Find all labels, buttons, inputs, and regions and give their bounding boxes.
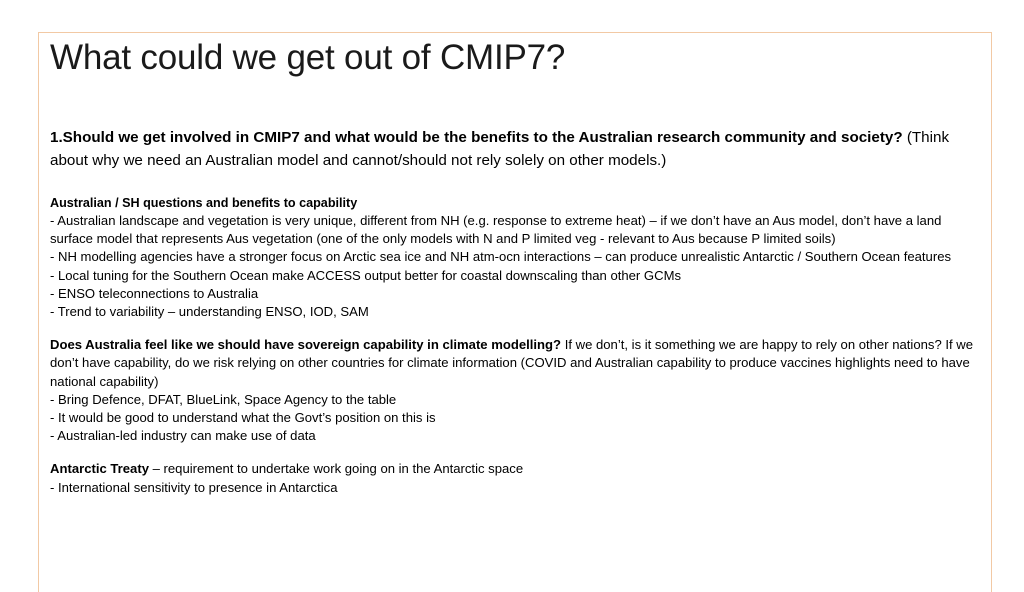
list-item: - Australian landscape and vegetation is… [50, 212, 978, 248]
list-item: - Australian-led industry can make use o… [50, 427, 978, 445]
slide-canvas: What could we get out of CMIP7? 1.Should… [0, 0, 1024, 576]
list-item: - Trend to variability – understanding E… [50, 303, 978, 321]
section-heading-australian: Australian / SH questions and benefits t… [50, 194, 978, 212]
page-title: What could we get out of CMIP7? [50, 36, 950, 80]
list-item: - Bring Defence, DFAT, BlueLink, Space A… [50, 391, 978, 409]
list-item: - International sensitivity to presence … [50, 479, 978, 497]
slide-body: 1.Should we get involved in CMIP7 and wh… [50, 126, 978, 497]
list-item: - It would be good to understand what th… [50, 409, 978, 427]
list-item: - ENSO teleconnections to Australia [50, 285, 978, 303]
section-antarctic-bullets: - International sensitivity to presence … [50, 479, 978, 497]
section-lead-sovereign: Does Australia feel like we should have … [50, 336, 978, 391]
section-australian-bullets: - Australian landscape and vegetation is… [50, 212, 978, 321]
question-bold-text: 1.Should we get involved in CMIP7 and wh… [50, 129, 903, 146]
list-item: - Local tuning for the Southern Ocean ma… [50, 267, 978, 285]
list-item: - NH modelling agencies have a stronger … [50, 248, 978, 266]
spacer-after-sovereign [50, 445, 978, 460]
section-lead-antarctic: Antarctic Treaty – requirement to undert… [50, 460, 978, 478]
section-lead-antarctic-bold: Antarctic Treaty [50, 461, 149, 476]
question-paragraph: 1.Should we get involved in CMIP7 and wh… [50, 126, 978, 172]
section-sovereign-bullets: - Bring Defence, DFAT, BlueLink, Space A… [50, 391, 978, 446]
spacer-after-question [50, 172, 978, 194]
section-lead-antarctic-normal: – requirement to undertake work going on… [149, 461, 523, 476]
spacer-after-australian [50, 321, 978, 336]
section-lead-sovereign-bold: Does Australia feel like we should have … [50, 337, 561, 352]
